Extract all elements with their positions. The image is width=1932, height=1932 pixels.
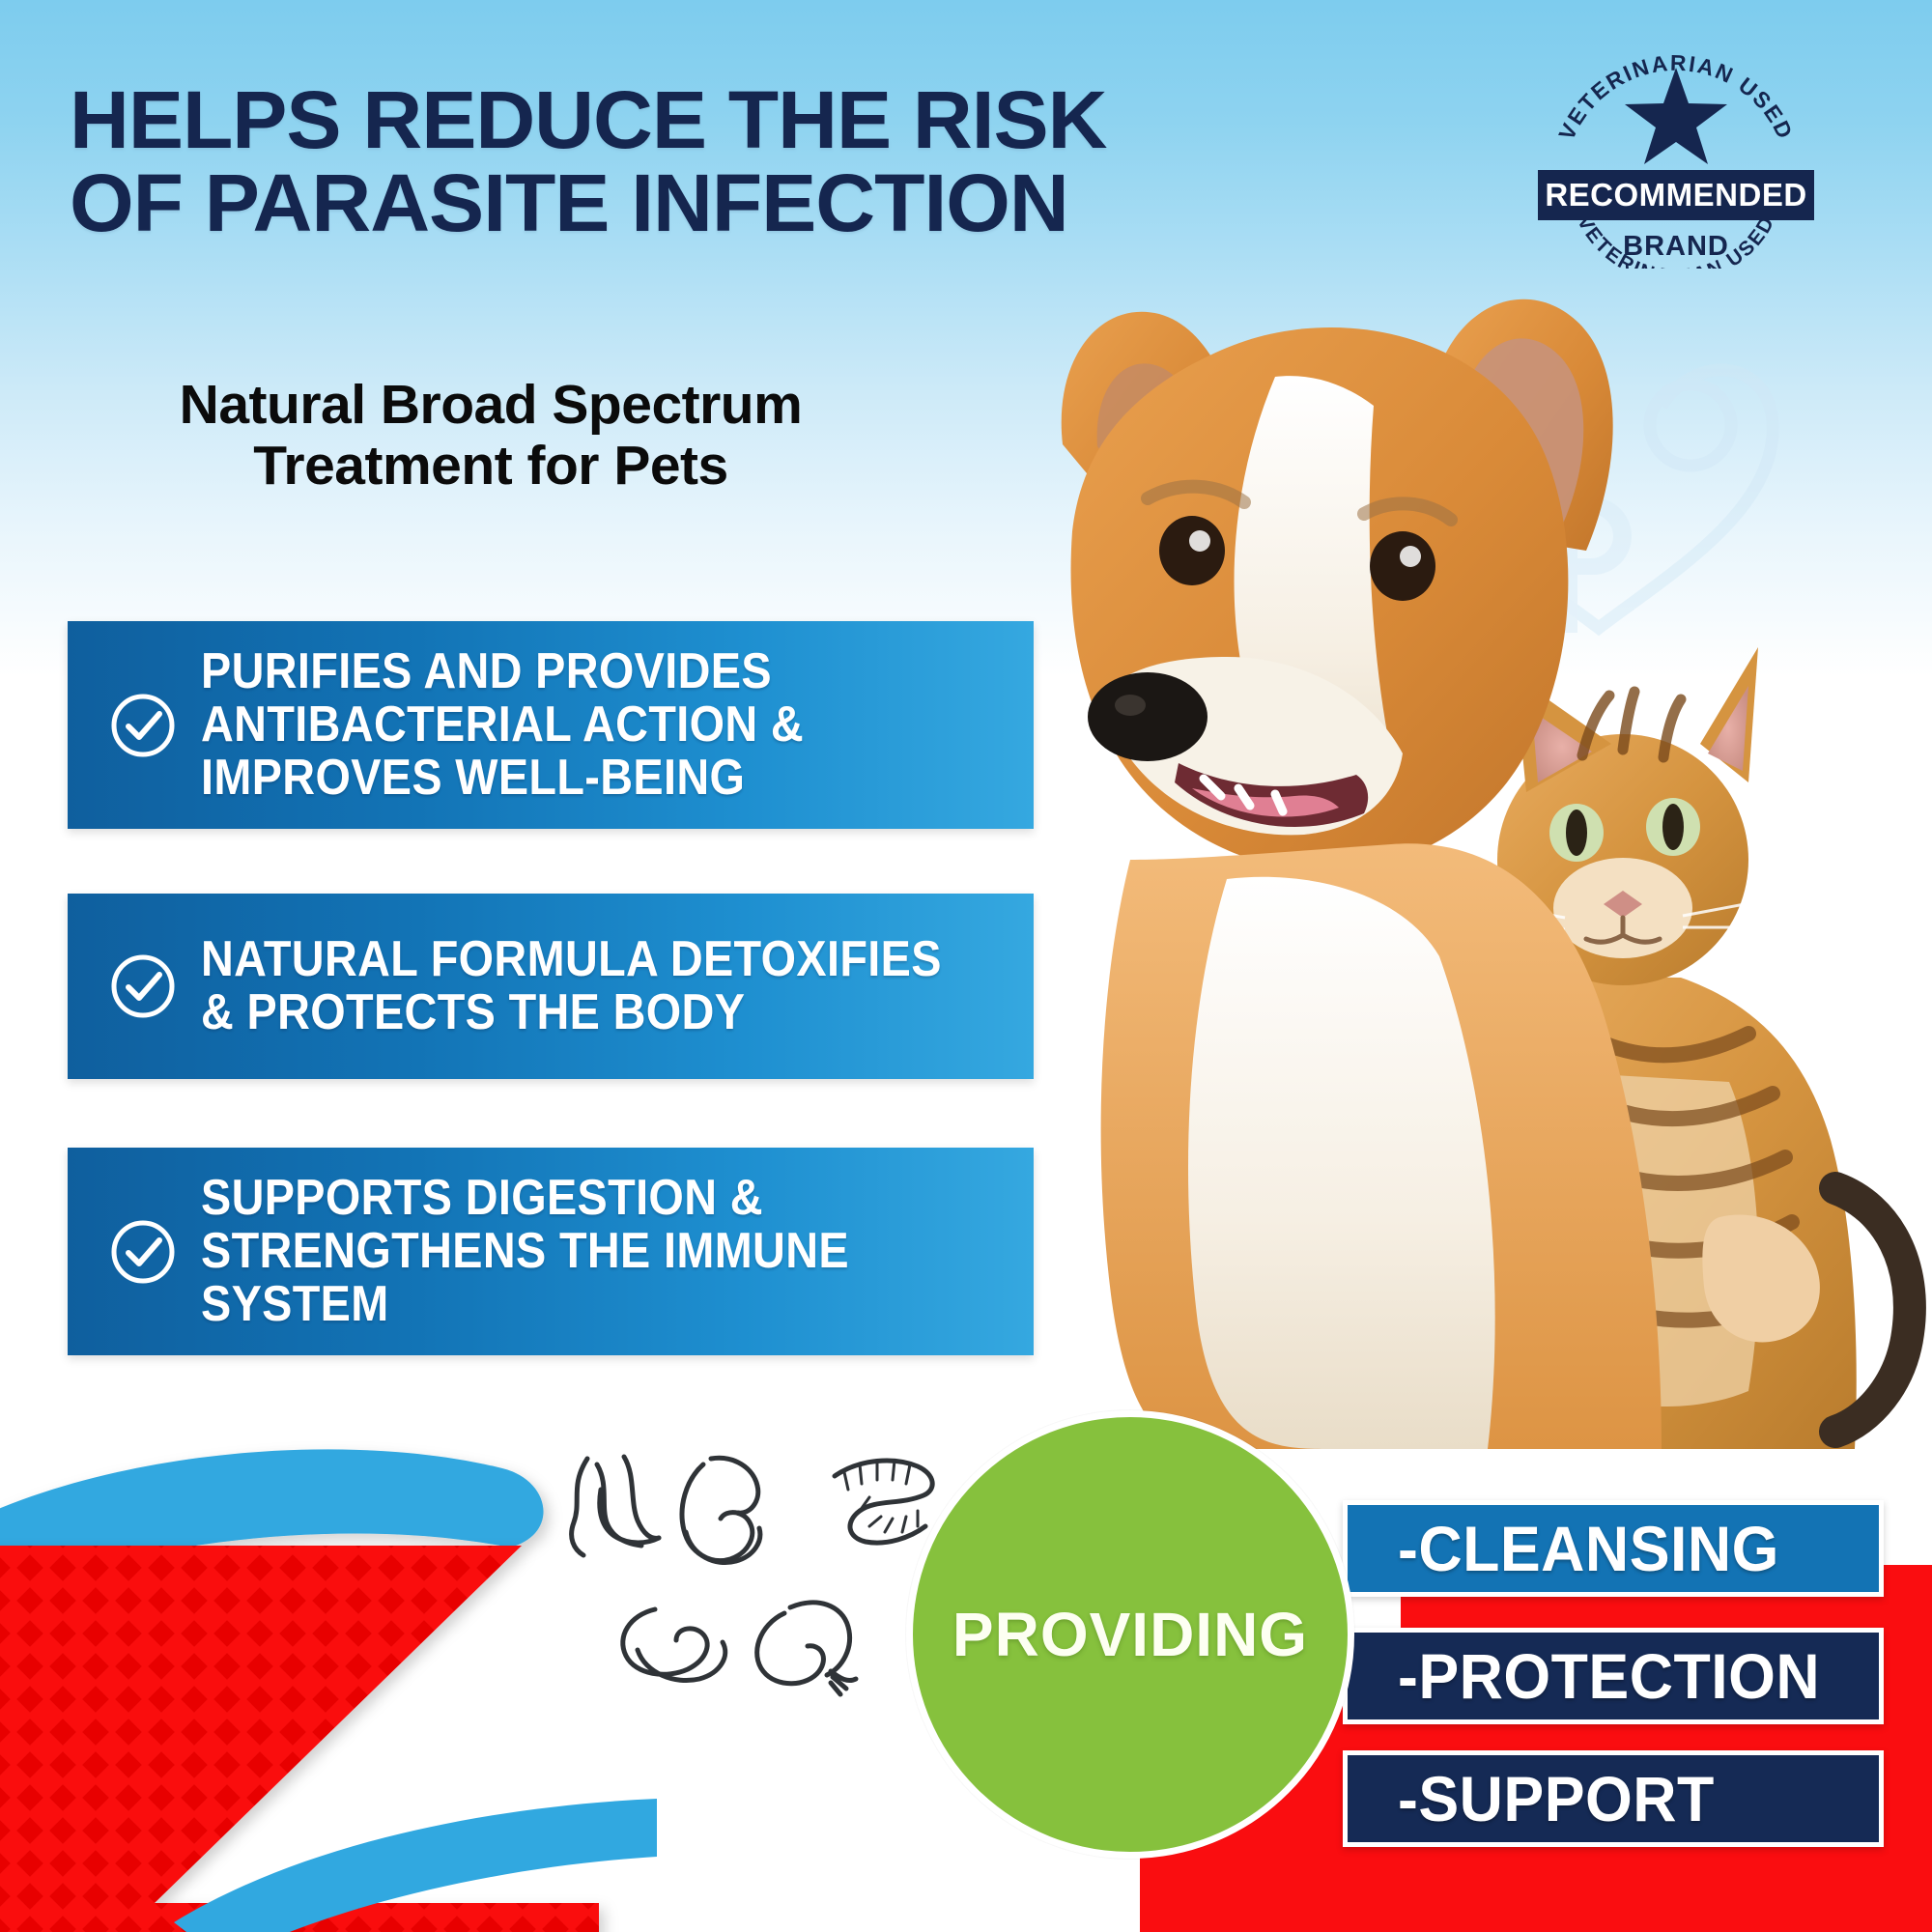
- svg-text:RECOMMENDED: RECOMMENDED: [1545, 177, 1806, 213]
- pill-protection-label: -PROTECTION: [1398, 1639, 1820, 1713]
- providing-badge: PROVIDING: [906, 1410, 1354, 1859]
- pill-support: -SUPPORT: [1343, 1750, 1884, 1847]
- star-icon: [1625, 68, 1727, 164]
- subtitle-line-1: Natural Broad Spectrum: [75, 375, 906, 436]
- benefit-row-3: SUPPORTS DIGESTION & STRENGTHENS THE IMM…: [68, 1148, 1034, 1355]
- providing-label: PROVIDING: [952, 1599, 1308, 1670]
- check-circle-icon: [108, 952, 178, 1021]
- check-circle-icon: [108, 1217, 178, 1287]
- subtitle: Natural Broad Spectrum Treatment for Pet…: [75, 375, 906, 496]
- pill-cleansing-label: -CLEANSING: [1398, 1512, 1779, 1585]
- benefit-text-3: SUPPORTS DIGESTION & STRENGTHENS THE IMM…: [201, 1172, 951, 1331]
- pill-protection: -PROTECTION: [1343, 1628, 1884, 1724]
- page-title: HELPS REDUCE THE RISK OF PARASITE INFECT…: [70, 79, 1233, 244]
- benefit-text-1: PURIFIES AND PROVIDES ANTIBACTERIAL ACTI…: [201, 645, 951, 805]
- headline-line-2: OF PARASITE INFECTION: [70, 162, 1233, 245]
- veterinarian-recommended-badge: VETERINARIAN USED VETERINARIAN USED RECO…: [1526, 27, 1826, 269]
- pill-support-label: -SUPPORT: [1398, 1762, 1715, 1835]
- check-circle-icon: [108, 691, 178, 760]
- parasite-worm-illustrations: [541, 1430, 947, 1719]
- benefit-row-1: PURIFIES AND PROVIDES ANTIBACTERIAL ACTI…: [68, 621, 1034, 829]
- svg-text:BRAND: BRAND: [1623, 231, 1729, 262]
- benefit-row-2: NATURAL FORMULA DETOXIFIES & PROTECTS TH…: [68, 894, 1034, 1079]
- subtitle-line-2: Treatment for Pets: [75, 436, 906, 497]
- pill-cleansing: -CLEANSING: [1343, 1500, 1884, 1597]
- infographic-canvas: HELPS REDUCE THE RISK OF PARASITE INFECT…: [0, 0, 1932, 1932]
- headline-line-1: HELPS REDUCE THE RISK: [70, 74, 1107, 165]
- benefit-text-2: NATURAL FORMULA DETOXIFIES & PROTECTS TH…: [201, 933, 951, 1039]
- red-block-right: [1401, 1565, 1932, 1932]
